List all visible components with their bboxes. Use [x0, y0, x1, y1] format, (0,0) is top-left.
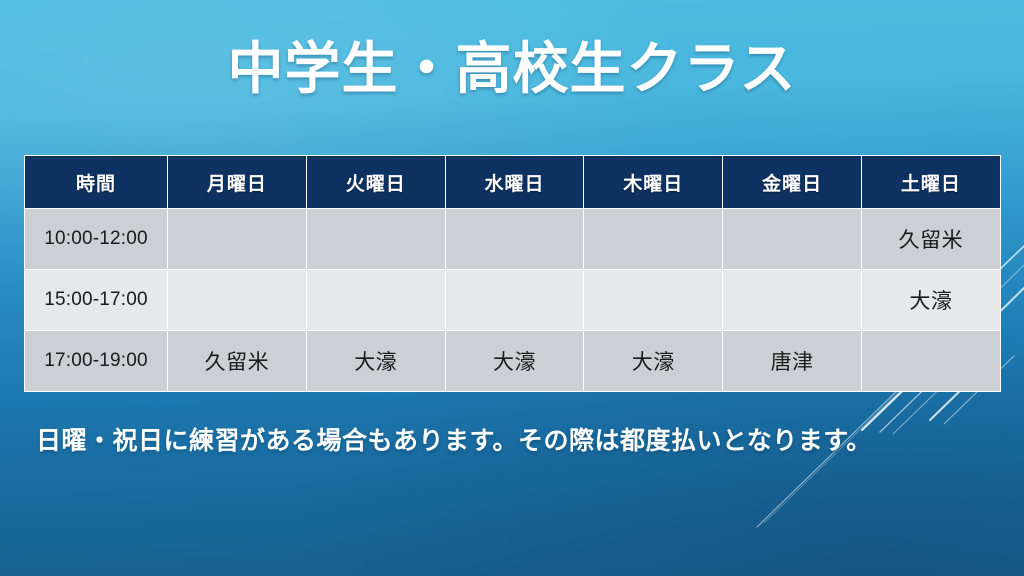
column-header-friday: 金曜日	[723, 156, 862, 209]
footer-note: 日曜・祝日に練習がある場合もあります。その際は都度払いとなります。	[36, 421, 872, 457]
page-title: 中学生・高校生クラス	[0, 38, 1024, 101]
time-slot-label: 17:00-19:00	[25, 331, 168, 392]
schedule-cell-saturday: 大濠	[861, 270, 1000, 331]
schedule-cell-wednesday	[445, 270, 584, 331]
schedule-cell-friday: 唐津	[723, 331, 862, 392]
schedule-cell-thursday	[584, 270, 723, 331]
schedule-cell-tuesday	[306, 209, 445, 270]
schedule-cell-tuesday: 大濠	[306, 331, 445, 392]
schedule-cell-saturday	[861, 331, 1000, 392]
schedule-table-container: 時間 月曜日 火曜日 水曜日 木曜日 金曜日 土曜日 10:00-12:00	[24, 155, 1000, 392]
column-header-time: 時間	[25, 156, 168, 209]
column-header-thursday: 木曜日	[584, 156, 723, 209]
slide-canvas: 中学生・高校生クラス 時間 月曜日 火曜日 水曜日 木曜日 金曜日 土曜日	[0, 0, 1024, 576]
schedule-cell-thursday	[584, 209, 723, 270]
column-header-wednesday: 水曜日	[445, 156, 584, 209]
schedule-cell-friday	[723, 270, 862, 331]
column-header-tuesday: 火曜日	[306, 156, 445, 209]
table-row: 15:00-17:00 大濠	[25, 270, 1001, 331]
schedule-table-head: 時間 月曜日 火曜日 水曜日 木曜日 金曜日 土曜日	[25, 156, 1001, 209]
schedule-table: 時間 月曜日 火曜日 水曜日 木曜日 金曜日 土曜日 10:00-12:00	[24, 155, 1001, 392]
schedule-cell-wednesday	[445, 209, 584, 270]
time-slot-label: 10:00-12:00	[25, 209, 168, 270]
schedule-cell-monday	[168, 209, 307, 270]
schedule-cell-wednesday: 大濠	[445, 331, 584, 392]
column-header-saturday: 土曜日	[861, 156, 1000, 209]
schedule-table-body: 10:00-12:00 久留米 15:00-17:00 大濠	[25, 209, 1001, 392]
table-row: 10:00-12:00 久留米	[25, 209, 1001, 270]
table-row: 17:00-19:00 久留米 大濠 大濠 大濠 唐津	[25, 331, 1001, 392]
schedule-cell-monday	[168, 270, 307, 331]
schedule-cell-thursday: 大濠	[584, 331, 723, 392]
column-header-monday: 月曜日	[168, 156, 307, 209]
schedule-cell-monday: 久留米	[168, 331, 307, 392]
schedule-cell-tuesday	[306, 270, 445, 331]
schedule-cell-saturday: 久留米	[861, 209, 1000, 270]
schedule-cell-friday	[723, 209, 862, 270]
table-header-row: 時間 月曜日 火曜日 水曜日 木曜日 金曜日 土曜日	[25, 156, 1001, 209]
time-slot-label: 15:00-17:00	[25, 270, 168, 331]
